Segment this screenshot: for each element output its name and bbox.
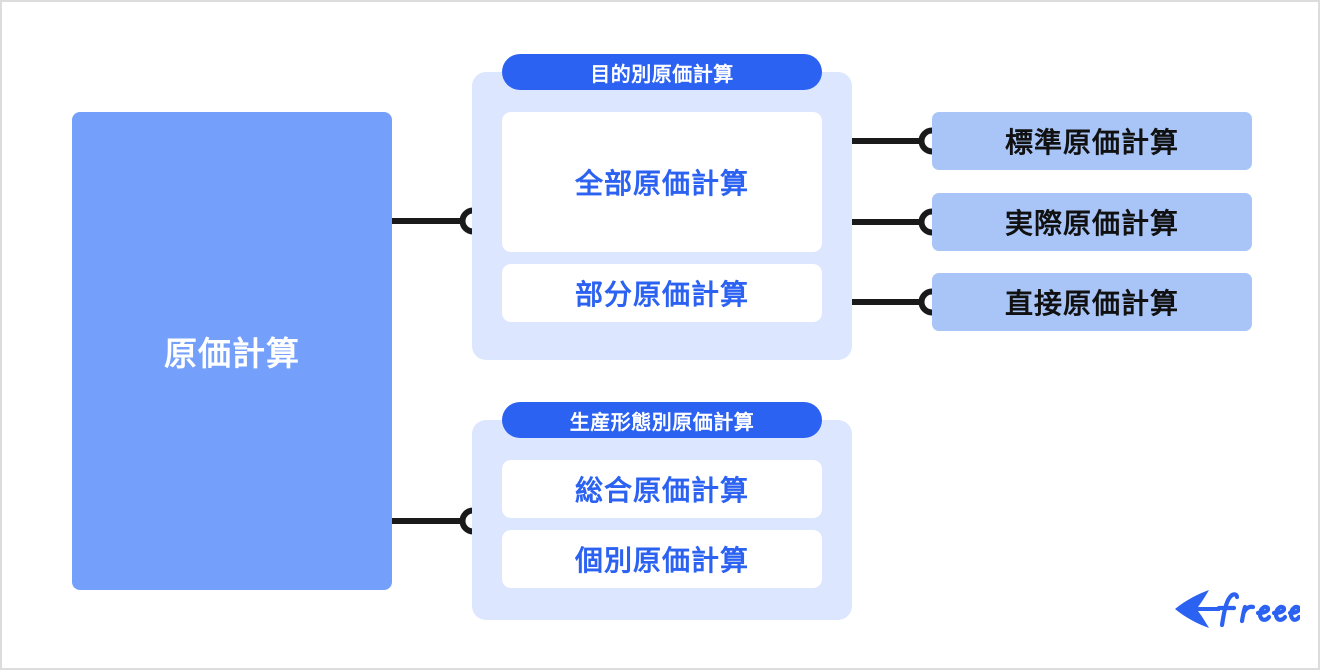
leaf-node-label: 直接原価計算	[1005, 282, 1179, 322]
group-item-list: 全部原価計算 部分原価計算	[502, 112, 822, 330]
sub-node-label: 個別原価計算	[575, 539, 749, 579]
sub-node-label: 総合原価計算	[575, 469, 749, 509]
group-item-list: 総合原価計算 個別原価計算	[502, 460, 822, 590]
group-title-pill-purpose-based: 目的別原価計算	[502, 54, 822, 90]
leaf-node-direct-costing[interactable]: 直接原価計算	[932, 273, 1252, 331]
freee-logo	[1172, 584, 1300, 636]
root-node-label: 原価計算	[164, 327, 300, 375]
leaf-node-actual-costing[interactable]: 実際原価計算	[932, 193, 1252, 251]
freee-wordmark	[1219, 594, 1299, 625]
group-production-type-based: 生産形態別原価計算 総合原価計算 個別原価計算	[472, 420, 852, 620]
group-title-label: 生産形態別原価計算	[570, 406, 755, 435]
freee-swallow-icon	[1175, 590, 1224, 628]
group-title-label: 目的別原価計算	[590, 58, 734, 87]
root-node-cost-calculation[interactable]: 原価計算	[72, 112, 392, 590]
sub-node-process-costing[interactable]: 総合原価計算	[502, 460, 822, 518]
leaf-node-label: 標準原価計算	[1005, 121, 1179, 161]
group-title-pill-production-type-based: 生産形態別原価計算	[502, 402, 822, 438]
leaf-node-label: 実際原価計算	[1005, 202, 1179, 242]
sub-node-label: 全部原価計算	[575, 162, 749, 202]
sub-node-label: 部分原価計算	[575, 273, 749, 313]
group-purpose-based: 目的別原価計算 全部原価計算 部分原価計算	[472, 72, 852, 360]
sub-node-full-costing[interactable]: 全部原価計算	[502, 112, 822, 252]
diagram-canvas: 原価計算 目的別原価計算 全部原価計算 部分原価計算 生産形態別原価計算 総合原…	[0, 0, 1320, 670]
sub-node-partial-costing[interactable]: 部分原価計算	[502, 264, 822, 322]
sub-node-job-order-costing[interactable]: 個別原価計算	[502, 530, 822, 588]
leaf-node-standard-costing[interactable]: 標準原価計算	[932, 112, 1252, 170]
